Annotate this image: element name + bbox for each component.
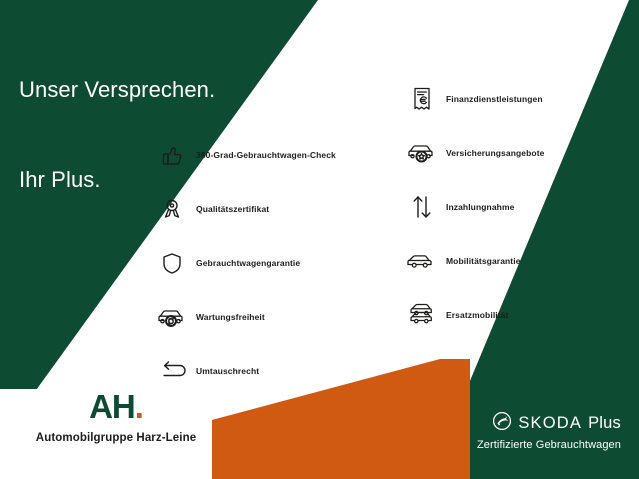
feature-list-left: 360-Grad-Gebrauchtwagen-Check Qualitätsz…	[148, 128, 388, 398]
dealer-monogram-text: AH	[89, 388, 135, 425]
promo-banner: Unser Versprechen. Ihr Plus. 360-Grad-Ge…	[0, 0, 639, 479]
award-rosette-icon	[148, 188, 196, 230]
feature-label: Umtauschrecht	[196, 366, 259, 376]
feature-item: Qualitätszertifikat	[148, 182, 388, 236]
car-shield-star-icon	[398, 132, 446, 174]
feature-label: Inzahlungnahme	[446, 202, 514, 212]
skoda-wordmark-row: SKODA Plus	[477, 411, 621, 436]
feature-item: 360-Grad-Gebrauchtwagen-Check	[148, 128, 388, 182]
feature-item: Inzahlungnahme	[398, 180, 628, 234]
up-down-arrows-icon	[398, 186, 446, 228]
feature-label: 360-Grad-Gebrauchtwagen-Check	[196, 150, 336, 160]
feature-item: Versicherungsangebote	[398, 126, 628, 180]
skoda-brand-text: SKODA	[518, 414, 582, 433]
feature-label: Qualitätszertifikat	[196, 204, 269, 214]
car-side-icon	[398, 240, 446, 282]
feature-label: Versicherungsangebote	[446, 148, 544, 158]
feature-item: Ersatzmobilität	[398, 288, 628, 342]
dealer-monogram: AH.	[89, 390, 143, 424]
car-service-icon	[148, 296, 196, 338]
headline-line-1: Unser Versprechen.	[19, 75, 215, 105]
dealer-name: Automobilgruppe Harz-Leine	[18, 432, 214, 444]
feature-item: Mobilitätsgarantie	[398, 234, 628, 288]
shield-icon	[148, 242, 196, 284]
return-arrow-icon	[148, 350, 196, 392]
dealer-monogram-dot: .	[135, 388, 143, 425]
feature-list-right: Finanzdienstleistungen Versicherungsange…	[398, 72, 628, 342]
feature-label: Wartungsfreiheit	[196, 312, 265, 322]
feature-label: Mobilitätsgarantie	[446, 256, 521, 266]
feature-item: Gebrauchtwagengarantie	[148, 236, 388, 290]
feature-item: Wartungsfreiheit	[148, 290, 388, 344]
skoda-winged-arrow-icon	[492, 411, 512, 436]
dealer-logo: AH. Automobilgruppe Harz-Leine	[18, 390, 214, 444]
thumbs-up-icon	[148, 134, 196, 176]
feature-item: Finanzdienstleistungen	[398, 72, 628, 126]
skoda-plus-text: Plus	[588, 414, 621, 433]
feature-label: Ersatzmobilität	[446, 310, 508, 320]
skoda-subtitle: Zertifizierte Gebrauchtwagen	[477, 439, 621, 451]
skoda-plus-logo: SKODA Plus Zertifizierte Gebrauchtwagen	[477, 411, 621, 451]
feature-label: Finanzdienstleistungen	[446, 94, 543, 104]
feature-label: Gebrauchtwagengarantie	[196, 258, 300, 268]
two-cars-icon	[398, 294, 446, 336]
invoice-euro-icon	[398, 78, 446, 120]
